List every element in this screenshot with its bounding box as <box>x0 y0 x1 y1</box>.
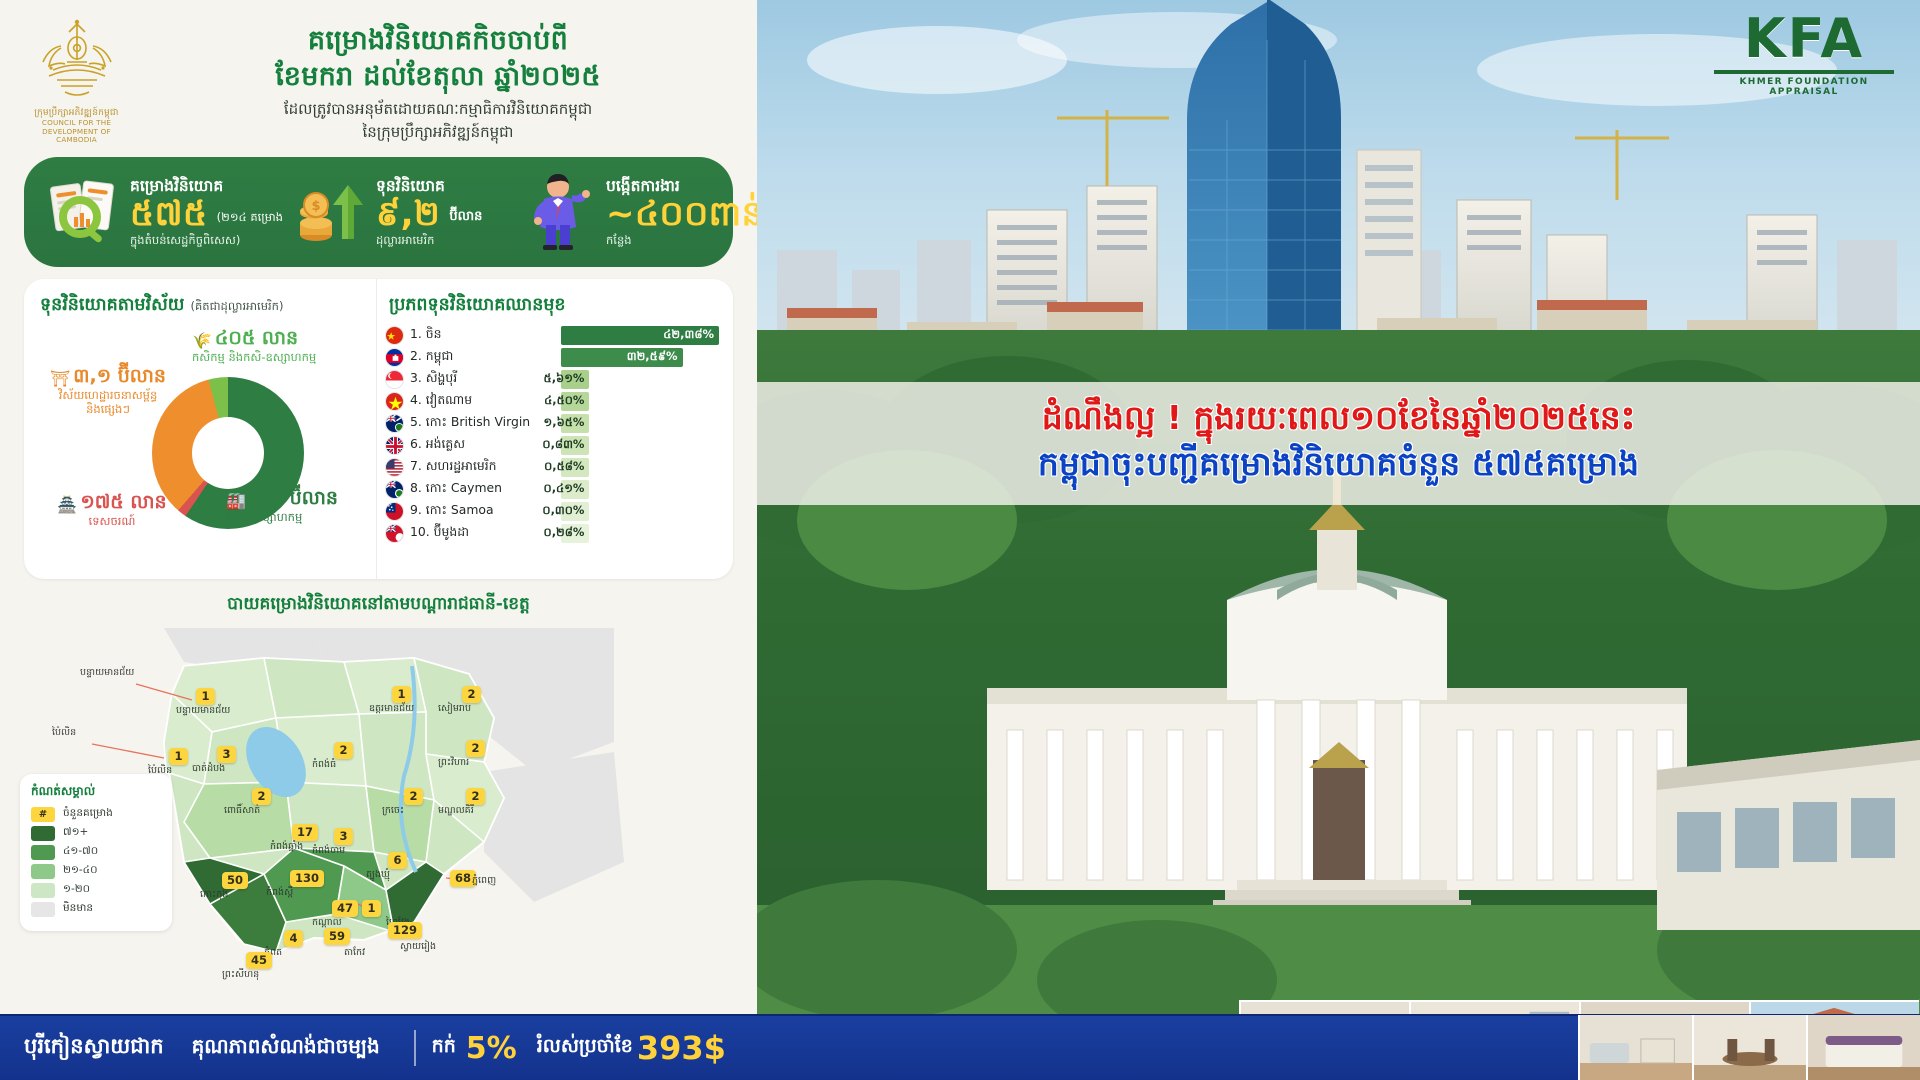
sector-name-tourism: ទេសចរណ៍ <box>46 515 178 529</box>
map-legend-label: ៤១-៧០ <box>63 845 98 860</box>
ranking-row: 7. សហរដ្ឋអាមេរិក០,៥៨% <box>385 457 719 478</box>
map-pin: 45 <box>246 952 272 969</box>
headline-line-2: កម្ពុជាចុះបញ្ជីគម្រោងវិនិយោគចំនួន ៥៧៥គម្… <box>757 441 1920 487</box>
banner-thumbnail-1 <box>1578 1015 1692 1080</box>
map-legend-swatch <box>31 902 55 917</box>
coins-arrow-up-icon: $ <box>292 173 368 251</box>
map-pin: 1 <box>362 900 381 917</box>
banner-deposit-value: 5% <box>466 1031 517 1066</box>
factory-icon: 🏭 <box>226 491 246 510</box>
right-photo-panel: KFA KHMER FOUNDATION APPRAISAL ដំណឹងល្អ … <box>757 0 1920 1080</box>
stat-projects-text: គម្រោងវិនិយោគ ៥៧៥ (២១៤ គម្រោង ក្នុងតំបន់… <box>130 178 283 247</box>
ranking-row-bar-area: ៤,៥០% <box>561 392 719 411</box>
map-title: បាយគម្រោងវិនិយោគនៅតាមបណ្ដារាជធានី-ខេត្ត <box>14 593 743 618</box>
map-province-label: ត្បូងឃ្មុំ <box>366 868 390 882</box>
ranking-row: 4. វៀតណាម៤,៥០% <box>385 391 719 412</box>
ranking-row-bar: ៤២,៣៨% <box>561 326 719 345</box>
map-province-label: កំពង់ធំ <box>312 758 336 772</box>
flag-bermuda-icon <box>385 524 404 543</box>
banner-divider-1 <box>414 1030 416 1066</box>
headline-band: ដំណឹងល្អ ! ក្នុងរយៈពេល១០ខែនៃឆ្នាំ២០២៥នេះ… <box>757 382 1920 505</box>
businessman-icon <box>522 173 598 251</box>
map-province-label: ក្រចេះ <box>382 804 404 818</box>
stat-jobs: បង្កើតការងារ ~៤០០ពាន់ កន្លែង <box>522 173 764 251</box>
sector-value-infrastructure: ៣,១ ប៊ីលាន <box>73 365 166 387</box>
kfa-logo-mark: KFA <box>1714 12 1894 66</box>
sector-title-text: ទុនវិនិយោគតាមវិស័យ <box>40 295 184 315</box>
ranking-row-value: ០,៥៨% <box>544 459 584 476</box>
sector-title-note: (គិតជាដុល្លារអាមេរិក) <box>191 299 284 313</box>
map-legend-rows: #ចំនួនគម្រោង៧១+៤១-៧០២១-៤០១-២០មិនមាន <box>31 807 162 917</box>
map-pin: 1 <box>169 748 188 765</box>
map-province-label: ស្វាយរៀង <box>400 940 436 954</box>
banner-monthly-label: រំលស់ប្រចាំខែ <box>537 1034 633 1062</box>
summary-stats-bar: គម្រោងវិនិយោគ ៥៧៥ (២១៤ គម្រោង ក្នុងតំបន់… <box>24 157 733 267</box>
ranking-row-bar-area: ០,៨៣% <box>561 436 719 455</box>
stat-projects: គម្រោងវិនិយោគ ៥៧៥ (២១៤ គម្រោង ក្នុងតំបន់… <box>40 173 292 251</box>
charts-card: ទុនវិនិយោគតាមវិស័យ (គិតជាដុល្លារអាមេរិក)… <box>24 279 733 579</box>
map-legend-swatch <box>31 864 55 879</box>
stat-projects-value: ៥៧៥ <box>130 195 208 233</box>
map-legend-title: កំណត់សម្គាល់ <box>31 783 162 801</box>
map-legend-swatch <box>31 845 55 860</box>
header: ក្រុមប្រឹក្សាអភិវឌ្ឍន៍កម្ពុជា COUNCIL FO… <box>14 8 743 147</box>
map-leader-label-0: បន្ទាយមានជ័យ <box>80 666 134 680</box>
map-legend-swatch <box>31 883 55 898</box>
stat-projects-sub: ក្នុងតំបន់សេដ្ឋកិច្ចពិសេស) <box>130 234 283 247</box>
flag-china-icon <box>385 326 404 345</box>
stat-capital-value: ៩,២ <box>376 195 440 233</box>
sector-label-infrastructure: ⛩៣,១ ប៊ីលាន វិស័យហេដ្ឋារចនាសម្ព័ន្ធ និងផ… <box>42 365 174 416</box>
ranking-row: 5. កោះ British Virgin១,៦៥% <box>385 413 719 434</box>
map-legend-label: មិនមាន <box>63 902 93 917</box>
ranking-row-name: 8. កោះ Caymen <box>410 480 561 499</box>
flag-british-virgin-islands-icon <box>385 414 404 433</box>
flag-singapore-icon <box>385 370 404 389</box>
map-legend-label: ៧១+ <box>63 826 88 841</box>
map-legend-swatch: # <box>31 807 55 822</box>
map-province-label: ពោធិ៍សាត់ <box>224 804 260 818</box>
map-province-label: តាកែវ <box>344 946 365 960</box>
subtitle-line-2: នៃក្រុមប្រឹក្សាអភិវឌ្ឍន៍កម្ពុជា <box>139 121 737 144</box>
stat-capital-text: ទុនវិនិយោគ ៩,២ ប៊ីលាន ដុល្លារអាមេរិក <box>376 178 482 247</box>
map-legend-label: ១-២០ <box>63 883 90 898</box>
map-pin: 17 <box>292 824 318 841</box>
stat-jobs-value: ~៤០០ពាន់ <box>606 195 764 233</box>
svg-text:$: $ <box>311 199 320 214</box>
ranking-row-name: 6. អង់គ្លេស <box>410 436 561 455</box>
flag-uk-icon <box>385 436 404 455</box>
ranking-row: 10. ប៊ីមូងដា០,២៨% <box>385 523 719 544</box>
stat-jobs-text: បង្កើតការងារ ~៤០០ពាន់ កន្លែង <box>606 178 764 247</box>
map-pin: 129 <box>388 922 422 939</box>
banner-brand: បុរីកៀនស្វាយជាក <box>0 1033 192 1064</box>
ranking-row-name: 4. វៀតណាម <box>410 392 561 411</box>
bottom-ad-banner[interactable]: បុរីកៀនស្វាយជាក គុណភាពសំណង់ជាចម្បង កក់ 5… <box>0 1014 1920 1080</box>
stat-projects-paren: (២១៤ គម្រោង <box>217 211 283 224</box>
crest-name-kh: ក្រុមប្រឹក្សាអភិវឌ្ឍន៍កម្ពុជា <box>24 108 129 118</box>
left-infographic-panel: ក្រុមប្រឹក្សាអភិវឌ្ឍន៍កម្ពុជា COUNCIL FO… <box>0 0 757 1080</box>
map-legend-row: ២១-៤០ <box>31 864 162 879</box>
stat-projects-label: គម្រោងវិនិយោគ <box>130 178 283 195</box>
map-province-label: កំពង់ស្ពឺ <box>266 886 293 900</box>
ranking-row-bar: ០,៤១% <box>561 480 589 499</box>
map-pin: 1 <box>392 686 411 703</box>
ranking-row-bar-area: ០,២៨% <box>561 524 719 543</box>
agriculture-icon: 🌾 <box>192 331 212 350</box>
ranking-row-bar-area: ០,៣០% <box>561 502 719 521</box>
ranking-row-value: ៤,៥០% <box>544 393 584 410</box>
map-pin: 2 <box>466 788 485 805</box>
stat-capital-unit: ប៊ីលាន <box>449 210 482 225</box>
map-province-label: ភ្នំពេញ <box>472 874 496 888</box>
ranking-row-bar: ៤,៥០% <box>561 392 589 411</box>
map-legend-row: ៤១-៧០ <box>31 845 162 860</box>
sector-investment-section: ទុនវិនិយោគតាមវិស័យ (គិតជាដុល្លារអាមេរិក)… <box>24 279 376 579</box>
kfa-logo-subtitle: KHMER FOUNDATION APPRAISAL <box>1714 77 1894 97</box>
map-pin: 47 <box>332 900 358 917</box>
sector-name-infrastructure-1: វិស័យហេដ្ឋារចនាសម្ព័ន្ធ <box>42 389 174 403</box>
ranking-row-bar-area: ១,៦៥% <box>561 414 719 433</box>
map-leader-label-1: ប៉ៃលិន <box>52 726 76 740</box>
banner-thumbnail-strip <box>1578 1015 1920 1080</box>
map-province-label: កោះកុង <box>200 888 228 902</box>
ranking-row: 8. កោះ Caymen០,៤១% <box>385 479 719 500</box>
map-pin: 2 <box>252 788 271 805</box>
ranking-row-value: ៣២,៥៩% <box>627 349 678 366</box>
ranking-row-bar-area: ៥,៦១% <box>561 370 719 389</box>
map-legend-row: ៧១+ <box>31 826 162 841</box>
ranking-row-bar-area: ០,៤១% <box>561 480 719 499</box>
royal-crest-icon <box>31 18 123 106</box>
map-pin: 2 <box>462 686 481 703</box>
stat-capital: $ ទុនវិនិយោគ ៩,២ ប៊ីលាន ដុល្លារអាមេរ <box>292 173 522 251</box>
sector-name-infrastructure-2: និងផ្សេងៗ <box>42 403 174 417</box>
ranking-row-name: 5. កោះ British Virgin <box>410 414 561 433</box>
headline-line-1: ដំណឹងល្អ ! ក្នុងរយៈពេល១០ខែនៃឆ្នាំ២០២៥នេះ <box>757 396 1920 441</box>
ranking-row: 2. កម្ពុជា៣២,៥៩% <box>385 347 719 368</box>
banner-monthly-value: 393$ <box>637 1029 726 1067</box>
ranking-row-bar-area: ៤២,៣៨% <box>561 326 719 345</box>
title-line-2: ខែមករា ដល់ខែតុលា ឆ្នាំ២០២៥ <box>139 59 737 95</box>
ranking-row-value: ១,៦៥% <box>544 415 585 432</box>
map-province-label: ឧត្ដរមានជ័យ <box>369 702 414 716</box>
map-legend-row: #ចំនួនគម្រោង <box>31 807 162 822</box>
ranking-row-name: 1. ចិន <box>410 326 561 345</box>
flag-cayman-islands-icon <box>385 480 404 499</box>
map-pin: 59 <box>324 928 350 945</box>
banner-thumbnail-2 <box>1692 1015 1806 1080</box>
map-pin: 4 <box>284 930 303 947</box>
stat-capital-label: ទុនវិនិយោគ <box>376 178 482 195</box>
map-legend-swatch <box>31 826 55 841</box>
map-province-label: ព្រះសីហនុ <box>222 968 259 982</box>
sector-value-tourism: ១៧៥ លាន <box>80 491 166 513</box>
title-line-1: គម្រោងវិនិយោគកិចចាប់ពី <box>139 24 737 59</box>
infographic-page: ក្រុមប្រឹក្សាអភិវឌ្ឍន៍កម្ពុជា COUNCIL FO… <box>0 0 1920 1080</box>
ranking-row-name: 2. កម្ពុជា <box>410 348 561 367</box>
banner-deposit-label: កក់ <box>432 1034 456 1062</box>
map-province-label: ព្រះវិហារ <box>438 756 469 770</box>
ranking-row-name: 7. សហរដ្ឋអាមេរិក <box>410 458 561 477</box>
ranking-row-value: ០,៨៣% <box>542 437 584 454</box>
sector-name-agriculture: កសិកម្ម និងកសិ-ឧស្សាហកម្ម <box>192 351 382 365</box>
crest-caption: ក្រុមប្រឹក្សាអភិវឌ្ឍន៍កម្ពុជា COUNCIL FO… <box>24 108 129 144</box>
ranking-row-bar: ០,៥៨% <box>561 458 589 477</box>
stat-jobs-label: បង្កើតការងារ <box>606 178 764 195</box>
ranking-row-bar: ៣២,៥៩% <box>561 348 683 367</box>
ranking-row: 3. សិង្ហបុរី៥,៦១% <box>385 369 719 390</box>
sector-label-tourism: 🏯១៧៥ លាន ទេសចរណ៍ <box>46 491 178 528</box>
ranking-row-name: 10. ប៊ីមូងដា <box>410 524 561 543</box>
province-map: 1បន្ទាយមានជ័យ1ប៉ៃលិន1ឧត្ដរមានជ័យ2សៀមរាប3… <box>14 622 747 954</box>
flag-vietnam-icon <box>385 392 404 411</box>
map-pin: 2 <box>466 740 485 757</box>
header-text: គម្រោងវិនិយោគកិចចាប់ពី ខែមករា ដល់ខែតុលា … <box>139 18 737 143</box>
sector-title: ទុនវិនិយោគតាមវិស័យ (គិតជាដុល្លារអាមេរិក) <box>40 293 366 319</box>
map-legend-label: ចំនួនគម្រោង <box>63 807 113 822</box>
ranking-row-bar-area: ០,៥៨% <box>561 458 719 477</box>
ranking-row: 9. កោះ Samoa០,៣០% <box>385 501 719 522</box>
government-palace-photo <box>757 0 1920 1080</box>
flag-cambodia-icon <box>385 348 404 367</box>
map-pin: 2 <box>404 788 423 805</box>
map-legend-row: មិនមាន <box>31 902 162 917</box>
ranking-title: ប្រភពទុនវិនិយោគឈានមុខ <box>385 293 719 319</box>
map-province-label: កំពង់ឆ្នាំង <box>270 840 303 854</box>
ranking-row-value: ៤២,៣៨% <box>663 327 714 344</box>
map-pin: 2 <box>334 742 353 759</box>
stat-jobs-sub: កន្លែង <box>606 234 764 247</box>
map-province-label: បន្ទាយមានជ័យ <box>176 704 230 718</box>
tourism-icon: 🏯 <box>57 495 77 514</box>
map-province-label: កំពង់ចាម <box>312 844 345 858</box>
subtitle-line-1: ដែលត្រូវបានអនុម័តដោយគណៈកម្មាធិការវិនិយោគ… <box>139 98 737 121</box>
documents-magnifier-icon <box>46 173 122 251</box>
investor-ranking-section: ប្រភពទុនវិនិយោគឈានមុខ 1. ចិន៤២,៣៨%2. កម្… <box>376 279 733 579</box>
stat-capital-sub: ដុល្លារអាមេរិក <box>376 234 482 247</box>
sector-label-industry: 🏭៥,៥ ប៊ីលាន វិស័យឧស្សាហកម្ម <box>226 487 376 524</box>
ranking-row-value: ៥,៦១% <box>544 371 585 388</box>
ranking-row: 6. អង់គ្លេស០,៨៣% <box>385 435 719 456</box>
kfa-logo-bar <box>1714 70 1894 74</box>
ranking-list: 1. ចិន៤២,៣៨%2. កម្ពុជា៣២,៥៩%3. សិង្ហបុរី… <box>385 325 719 544</box>
flag-usa-icon <box>385 458 404 477</box>
ranking-row-value: ០,៣០% <box>542 503 584 520</box>
map-pin: 6 <box>388 852 407 869</box>
map-pin: 50 <box>222 872 248 889</box>
ranking-row-bar: ៥,៦១% <box>561 370 589 389</box>
sector-name-industry: វិស័យឧស្សាហកម្ម <box>226 511 376 525</box>
ranking-row-bar: ០,៣០% <box>561 502 589 521</box>
banner-thumbnail-3 <box>1806 1015 1920 1080</box>
infrastructure-icon: ⛩ <box>50 369 70 388</box>
sector-value-industry: ៥,៥ ប៊ីលាន <box>249 487 338 509</box>
ranking-row-bar: ១,៦៥% <box>561 414 589 433</box>
sector-value-agriculture: ៤០៥ លាន <box>215 327 298 349</box>
flag-samoa-icon <box>385 502 404 521</box>
sector-label-agriculture: 🌾៤០៥ លាន កសិកម្ម និងកសិ-ឧស្សាហកម្ម <box>192 327 382 364</box>
map-pin: 1 <box>196 688 215 705</box>
ranking-row-value: ០,២៨% <box>544 525 585 542</box>
ranking-row: 1. ចិន៤២,៣៨% <box>385 325 719 346</box>
ranking-row-name: 3. សិង្ហបុរី <box>410 370 561 389</box>
map-province-label: សៀមរាប <box>438 702 471 716</box>
map-legend: កំណត់សម្គាល់ #ចំនួនគម្រោង៧១+៤១-៧០២១-៤០១-… <box>20 774 172 931</box>
map-legend-row: ១-២០ <box>31 883 162 898</box>
ranking-row-bar: ០,២៨% <box>561 524 589 543</box>
map-pin: 130 <box>290 870 324 887</box>
sector-donut-chart: ⛩៣,១ ប៊ីលាន វិស័យហេដ្ឋារចនាសម្ព័ន្ធ និងផ… <box>40 319 366 555</box>
map-legend-label: ២១-៤០ <box>63 864 98 879</box>
banner-tagline: គុណភាពសំណង់ជាចម្បង <box>192 1033 398 1063</box>
crest-name-en: COUNCIL FOR THE DEVELOPMENT OF CAMBODIA <box>42 118 111 144</box>
map-pin: 3 <box>334 828 353 845</box>
map-province-label: មណ្ឌលគិរី <box>438 804 474 818</box>
map-province-label: បាត់ដំបង <box>192 762 225 776</box>
map-pin: 3 <box>217 746 236 763</box>
cdc-crest: ក្រុមប្រឹក្សាអភិវឌ្ឍន៍កម្ពុជា COUNCIL FO… <box>24 18 129 136</box>
kfa-logo: KFA KHMER FOUNDATION APPRAISAL <box>1714 12 1894 97</box>
ranking-row-bar: ០,៨៣% <box>561 436 589 455</box>
ranking-row-name: 9. កោះ Samoa <box>410 502 561 521</box>
ranking-row-value: ០,៤១% <box>544 481 585 498</box>
ranking-row-bar-area: ៣២,៥៩% <box>561 348 719 367</box>
